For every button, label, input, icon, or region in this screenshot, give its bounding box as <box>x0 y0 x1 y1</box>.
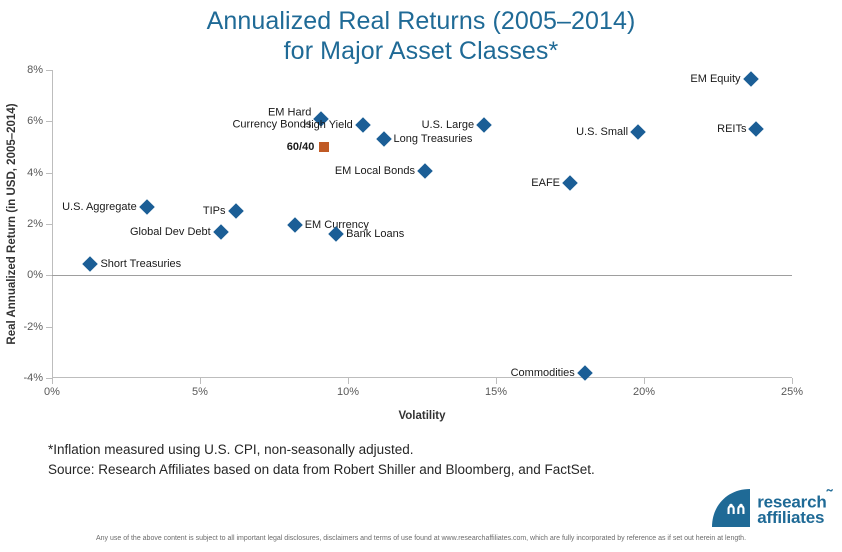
y-axis-line <box>52 70 53 378</box>
diamond-marker-icon <box>417 164 433 180</box>
x-tick-label: 20% <box>633 386 655 398</box>
diamond-marker-icon <box>376 132 392 148</box>
y-tick-label: 4% <box>27 167 43 179</box>
legal-disclaimer: Any use of the above content is subject … <box>0 534 842 544</box>
diamond-marker-icon <box>355 117 371 133</box>
x-tick <box>644 378 645 384</box>
diamond-marker-icon <box>577 365 593 381</box>
x-tick <box>52 378 53 384</box>
x-tick <box>792 378 793 384</box>
data-point-label: EM HardCurrency Bonds <box>232 106 311 131</box>
y-tick <box>46 275 52 276</box>
page-title: Annualized Real Returns (2005–2014) for … <box>0 6 842 66</box>
research-affiliates-logo: research˜ affiliates <box>710 487 832 527</box>
diamond-marker-icon <box>287 218 303 234</box>
diamond-marker-icon <box>213 224 229 240</box>
data-point-label: Long Treasuries <box>394 133 473 146</box>
y-tick-label: 0% <box>27 269 43 281</box>
y-tick-label: 2% <box>27 218 43 230</box>
y-tick-label: -2% <box>23 321 43 333</box>
diamond-marker-icon <box>743 71 759 87</box>
square-marker-icon <box>319 142 329 152</box>
x-axis-line <box>52 377 792 378</box>
logo-wordmark: research˜ affiliates <box>757 488 832 527</box>
x-tick <box>200 378 201 384</box>
diamond-marker-icon <box>139 200 155 216</box>
data-point-label: U.S. Large <box>422 119 475 132</box>
footnote-inflation: *Inflation measured using U.S. CPI, non-… <box>48 440 595 460</box>
x-tick-label: 5% <box>192 386 208 398</box>
diamond-marker-icon <box>476 117 492 133</box>
diamond-marker-icon <box>228 203 244 219</box>
diamond-marker-icon <box>630 124 646 140</box>
data-point-label: Commodities <box>511 367 575 380</box>
data-point-label: U.S. Small <box>576 125 628 138</box>
footnote-source: Source: Research Affiliates based on dat… <box>48 460 595 480</box>
logo-word-research: research˜ <box>757 488 832 511</box>
diamond-marker-icon <box>83 256 99 272</box>
diamond-marker-icon <box>749 121 765 137</box>
data-point-label: REITs <box>717 123 746 136</box>
y-tick <box>46 327 52 328</box>
x-tick-label: 10% <box>337 386 359 398</box>
data-point-label: Global Dev Debt <box>130 225 211 238</box>
x-tick <box>348 378 349 384</box>
x-tick-label: 15% <box>485 386 507 398</box>
x-tick-label: 25% <box>781 386 803 398</box>
x-axis-title: Volatility <box>52 410 792 422</box>
title-line-2: for Major Asset Classes* <box>0 36 842 66</box>
data-point-label: EM Local Bonds <box>335 165 415 178</box>
diamond-marker-icon <box>562 175 578 191</box>
logo-word-affiliates: affiliates <box>757 510 832 526</box>
data-point-label: EAFE <box>531 177 560 190</box>
zero-baseline <box>52 275 792 276</box>
x-tick <box>496 378 497 384</box>
data-point-label: TIPs <box>203 205 226 218</box>
x-tick-label: 0% <box>44 386 60 398</box>
logo-trademark: ˜ <box>827 486 832 505</box>
title-line-1: Annualized Real Returns (2005–2014) <box>0 6 842 36</box>
data-point-label: EM Equity <box>690 73 740 86</box>
data-point-label: 60/40 <box>287 141 315 154</box>
y-tick-label: -4% <box>23 372 43 384</box>
data-point-label: U.S. Aggregate <box>62 201 137 214</box>
data-point-label: Bank Loans <box>346 228 404 241</box>
y-tick <box>46 224 52 225</box>
footnotes: *Inflation measured using U.S. CPI, non-… <box>48 440 595 480</box>
y-tick <box>46 121 52 122</box>
y-tick <box>46 70 52 71</box>
y-tick-label: 8% <box>27 64 43 76</box>
plot-area: 8%6%4%2%0%-2%-4% 0%5%10%15%20%25% Short … <box>52 70 792 378</box>
chart-page: Annualized Real Returns (2005–2014) for … <box>0 0 842 552</box>
y-tick <box>46 173 52 174</box>
data-point-label: High Yield <box>303 119 353 132</box>
data-point-label: Short Treasuries <box>100 258 181 271</box>
y-tick-label: 6% <box>27 115 43 127</box>
logo-mark-icon <box>710 487 750 527</box>
y-axis-title: Real Annualized Return (in USD, 2005–201… <box>6 70 22 378</box>
